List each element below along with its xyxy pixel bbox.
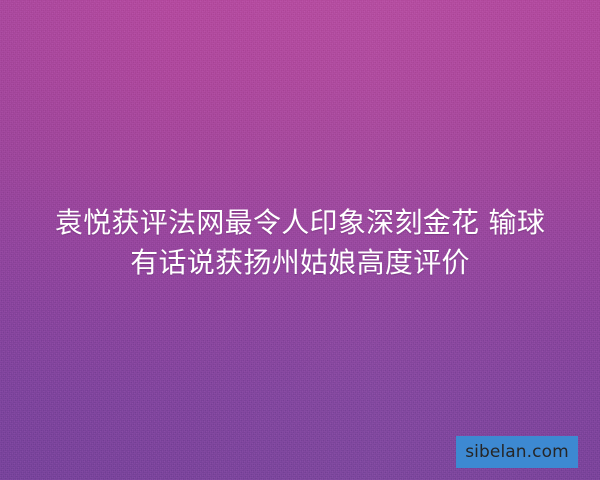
news-title-card: 袁悦获评法网最令人印象深刻金花 输球 有话说获扬州姑娘高度评价 sibelan.… [0,0,600,480]
watermark-badge: sibelan.com [456,436,578,468]
watermark-label: sibelan.com [465,444,569,461]
headline-text: 袁悦获评法网最令人印象深刻金花 输球 有话说获扬州姑娘高度评价 [0,203,600,283]
